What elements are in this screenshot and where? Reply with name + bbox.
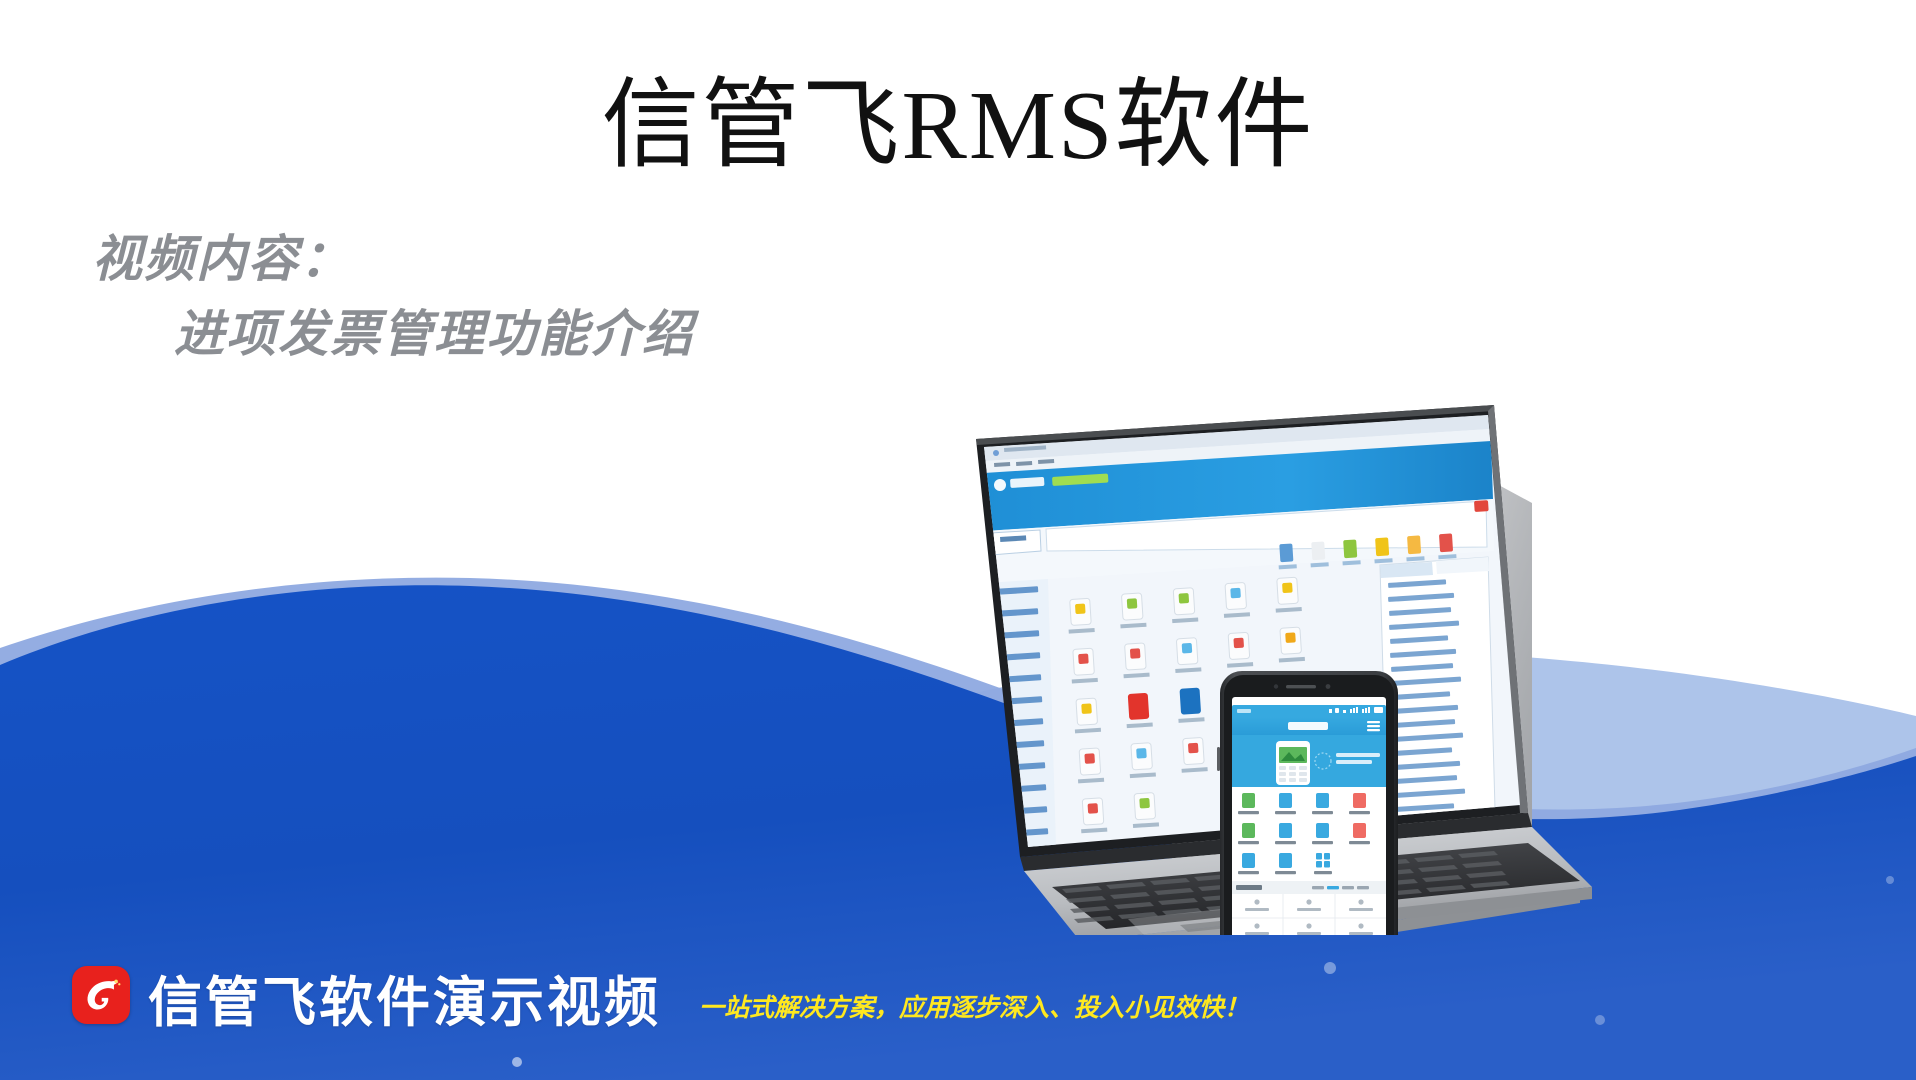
- footer-brand: 信管飞软件演示视频 一站式解决方案，应用逐步深入、投入小见效快！: [72, 966, 1249, 1028]
- subtitle-topic: 进项发票管理功能介绍: [92, 303, 694, 366]
- device-illustration: [880, 375, 1916, 935]
- phone-device: [1217, 671, 1398, 935]
- brand-name: 信管飞软件演示视频: [148, 976, 661, 1030]
- subtitle-label: 视频内容：: [92, 228, 694, 291]
- decor-dot: [1595, 1015, 1605, 1025]
- brand-bird-logo-icon: [72, 966, 130, 1024]
- subtitle-block: 视频内容： 进项发票管理功能介绍: [92, 228, 694, 365]
- decor-dot: [512, 1057, 522, 1067]
- brand-tagline: 一站式解决方案，应用逐步深入、投入小见效快！: [699, 988, 1249, 1024]
- decor-dot: [1324, 962, 1336, 974]
- slide-title: 信管飞RMS软件: [0, 70, 1916, 183]
- presentation-slide: 信管飞RMS软件 视频内容： 进项发票管理功能介绍: [0, 0, 1916, 1080]
